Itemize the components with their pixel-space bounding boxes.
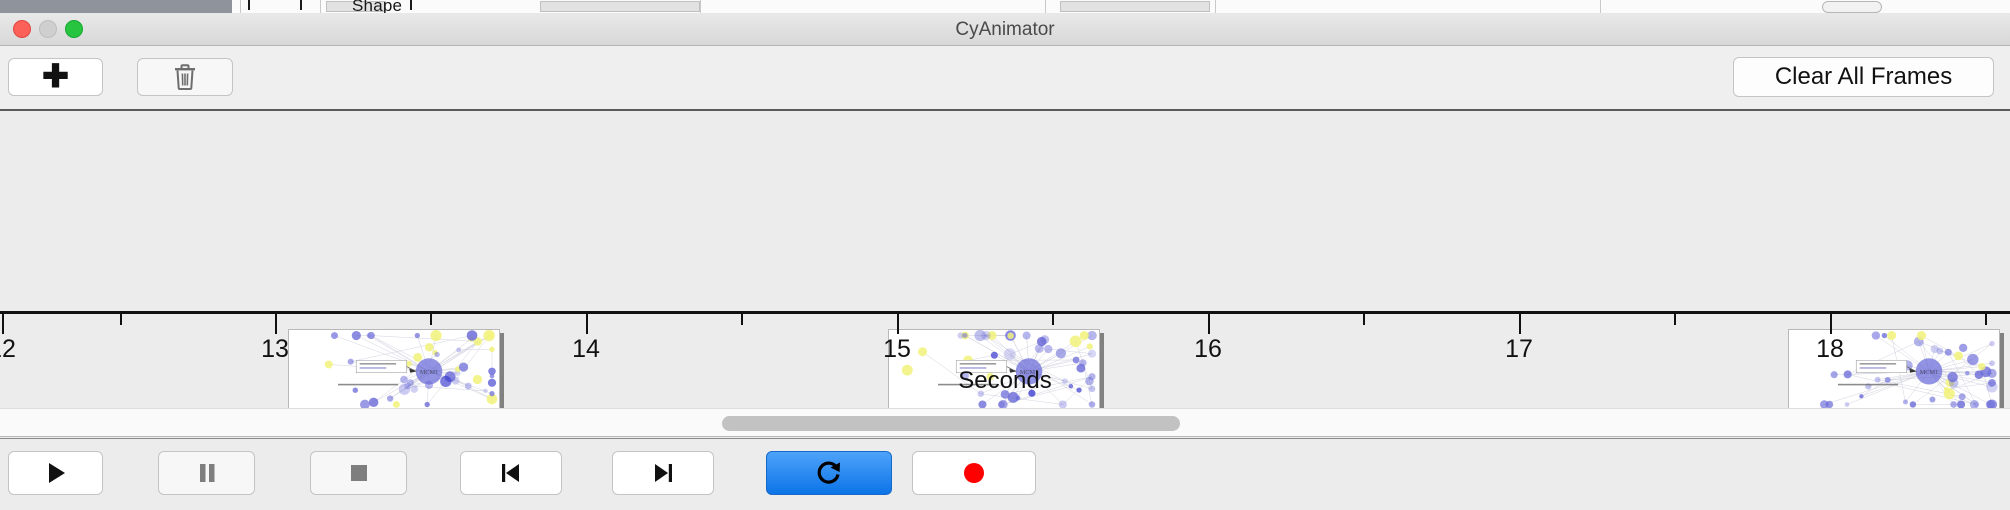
axis-tick-minor (120, 314, 122, 325)
background-divider (1600, 0, 1601, 13)
background-divider (700, 0, 701, 13)
play-button[interactable] (8, 451, 103, 495)
loop-button[interactable] (766, 451, 892, 495)
trash-icon (174, 64, 196, 90)
add-frame-button[interactable]: ✚ (8, 58, 103, 96)
background-tick (410, 0, 412, 10)
scrollbar-thumb[interactable] (722, 416, 1180, 431)
axis-tick-minor (430, 314, 432, 325)
background-window-strip: Shape (0, 0, 2010, 13)
axis-tick-label: 16 (1168, 335, 1248, 364)
background-field (1060, 1, 1210, 12)
axis-tick-label: 12 (0, 335, 42, 364)
skip-forward-icon (650, 461, 676, 485)
axis-tick-label: 15 (857, 335, 937, 364)
axis-tick-label: 18 (1790, 335, 1870, 364)
axis-tick-minor (1363, 314, 1365, 325)
axis-tick-minor (741, 314, 743, 325)
background-shape-label: Shape (352, 0, 402, 13)
pause-icon (195, 461, 219, 485)
clear-all-frames-button[interactable]: Clear All Frames (1733, 57, 1994, 97)
axis-tick-major (1208, 314, 1210, 334)
title-bar: CyAnimator (0, 13, 2010, 46)
toolbar: ✚ Clear All Frames (0, 46, 2010, 110)
skip-to-start-button[interactable] (460, 451, 562, 495)
stop-icon (348, 462, 370, 484)
horizontal-scrollbar[interactable] (0, 408, 2010, 437)
axis-tick-major (586, 314, 588, 334)
axis-tick-minor (1985, 314, 1987, 325)
axis-tick-major (275, 314, 277, 334)
timeline-axis (0, 311, 2010, 314)
axis-tick-label: 14 (546, 335, 626, 364)
background-pill (1822, 1, 1882, 13)
stop-button[interactable] (310, 451, 407, 495)
background-toolbar-block (0, 0, 232, 13)
loop-icon (814, 459, 844, 487)
delete-frame-button[interactable] (137, 58, 233, 96)
record-button[interactable] (912, 451, 1036, 495)
background-divider (1215, 0, 1216, 13)
axis-tick-major (1830, 314, 1832, 334)
background-tick (248, 0, 250, 10)
skip-to-end-button[interactable] (612, 451, 714, 495)
background-tick (300, 0, 302, 10)
skip-back-icon (498, 461, 524, 485)
window-title: CyAnimator (0, 13, 2010, 46)
axis-title: Seconds (0, 367, 2010, 395)
plus-icon: ✚ (42, 60, 69, 92)
background-field (540, 1, 700, 12)
playback-controls-bar: Animation Speed: (0, 438, 2010, 510)
axis-tick-label: 13 (235, 335, 315, 364)
axis-tick-minor (1674, 314, 1676, 325)
background-divider (240, 0, 241, 13)
pause-button[interactable] (158, 451, 255, 495)
background-divider (1045, 0, 1046, 13)
record-icon (961, 460, 987, 486)
background-divider (320, 0, 321, 13)
axis-tick-label: 17 (1479, 335, 1559, 364)
timeline-panel[interactable]: MCM1MCM1MCM1 12131415161718 Seconds (0, 111, 2010, 408)
axis-tick-major (897, 314, 899, 334)
frames-track[interactable]: MCM1MCM1MCM1 (0, 111, 2010, 313)
axis-tick-major (2, 314, 4, 334)
axis-tick-major (1519, 314, 1521, 334)
clear-all-frames-label: Clear All Frames (1775, 63, 1952, 91)
play-icon (43, 460, 69, 486)
axis-tick-minor (1052, 314, 1054, 325)
cyanimator-window: Shape CyAnimator ✚ Clear All Frames (0, 0, 2010, 510)
